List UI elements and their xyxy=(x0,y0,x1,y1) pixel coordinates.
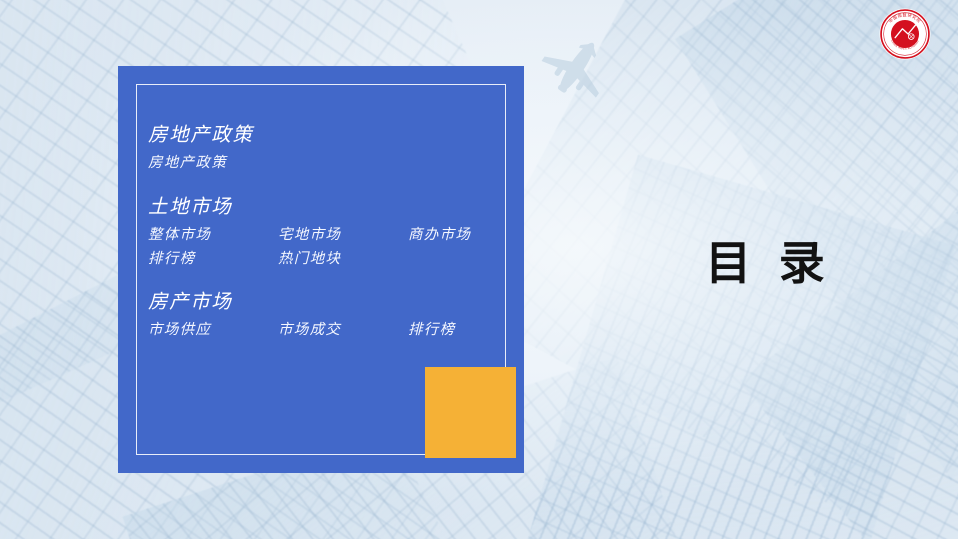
toc-group-property-market: 房产市场 市场供应 市场成交 排行榜 xyxy=(148,289,502,343)
toc-item-overall-market[interactable]: 整体市场 xyxy=(148,224,278,247)
toc-list: 房地产政策 房地产政策 土地市场 整体市场 宅地市场 商办市场 xyxy=(148,122,502,343)
toc-row: 排行榜 热门地块 xyxy=(148,248,502,271)
toc-row: 整体市场 宅地市场 商办市场 xyxy=(148,224,502,247)
toc-group-title: 土地市场 xyxy=(148,194,502,222)
toc-item-commercial-office[interactable]: 商办市场 xyxy=(408,224,471,247)
toc-group-rows: 房地产政策 xyxy=(148,152,502,175)
toc-item-residential-land[interactable]: 宅地市场 xyxy=(278,224,408,247)
toc-row: 房地产政策 xyxy=(148,152,502,175)
orange-accent-square xyxy=(425,367,516,458)
toc-group-title: 房产市场 xyxy=(148,289,502,317)
toc-item-market-ranking[interactable]: 排行榜 xyxy=(408,319,455,342)
toc-row: 市场供应 市场成交 排行榜 xyxy=(148,319,502,342)
airplane-icon xyxy=(531,28,623,106)
toc-item-hot-plots[interactable]: 热门地块 xyxy=(278,248,341,271)
toc-item-ranking[interactable]: 排行榜 xyxy=(148,248,278,271)
toc-item-market-transaction[interactable]: 市场成交 xyxy=(278,319,408,342)
toc-group-policy: 房地产政策 房地产政策 xyxy=(148,122,502,176)
toc-group-rows: 市场供应 市场成交 排行榜 xyxy=(148,319,502,342)
slide-canvas: 房地产政策 房地产政策 土地市场 整体市场 宅地市场 商办市场 xyxy=(0,0,958,539)
toc-group-title: 房地产政策 xyxy=(148,122,502,150)
toc-item-market-supply[interactable]: 市场供应 xyxy=(148,319,278,342)
toc-panel: 房地产政策 房地产政策 土地市场 整体市场 宅地市场 商办市场 xyxy=(118,66,524,473)
toc-item-policy[interactable]: 房地产政策 xyxy=(148,152,227,175)
page-title: 目 录 xyxy=(705,227,833,293)
toc-group-land-market: 土地市场 整体市场 宅地市场 商办市场 排行榜 热门地块 xyxy=(148,194,502,271)
toc-group-rows: 整体市场 宅地市场 商办市场 排行榜 热门地块 xyxy=(148,224,502,271)
china-index-academy-logo: 中国指数研究院 CHINA INDEX ACADEMY xyxy=(879,8,931,60)
